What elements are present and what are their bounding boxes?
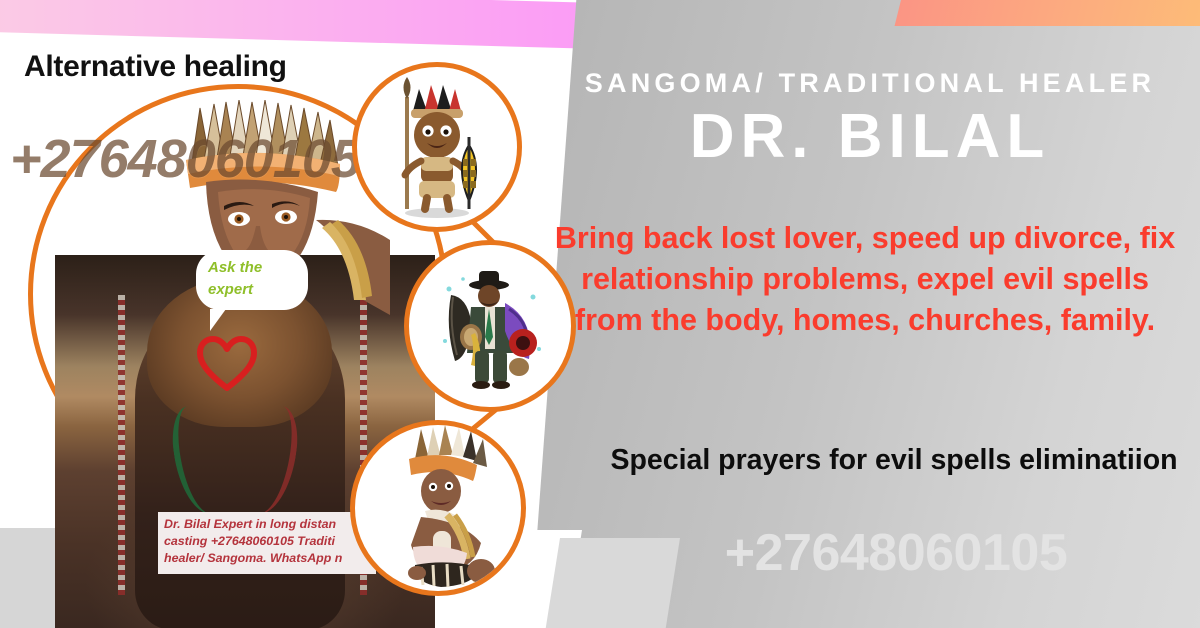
kneeling-sangoma-illustration bbox=[355, 425, 521, 591]
special-prayers-subheading: Special prayers for evil spells eliminat… bbox=[596, 442, 1192, 480]
doctor-name-title: DR. BILAL bbox=[560, 104, 1180, 169]
circle-zulu-warrior-child bbox=[352, 62, 522, 232]
phone-number-watermark: +27648060105 bbox=[596, 523, 1196, 583]
pink-gradient-bar bbox=[0, 0, 600, 49]
poster-canvas: Alternative healing bbox=[0, 0, 1200, 628]
zulu-warrior-child-illustration bbox=[357, 67, 517, 227]
heart-outline-icon bbox=[196, 336, 258, 392]
photo-bead-strand-left bbox=[118, 295, 125, 595]
speech-bubble-label: Ask the expert bbox=[208, 257, 308, 301]
services-description: Bring back lost lover, speed up divorce,… bbox=[545, 218, 1185, 341]
page-title: Alternative healing bbox=[24, 50, 287, 84]
orange-gradient-bar bbox=[895, 0, 1200, 26]
kicker-heading: SANGOMA/ TRADITIONAL HEALER bbox=[560, 68, 1180, 99]
caption-line-1: Dr. Bilal Expert in long distan bbox=[164, 516, 371, 533]
photo-caption-box: Dr. Bilal Expert in long distan casting … bbox=[158, 512, 376, 574]
caption-line-3: healer/ Sangoma. WhatsApp n bbox=[164, 550, 371, 567]
caption-line-2: casting +27648060105 Traditi bbox=[164, 533, 371, 550]
circle-kneeling-sangoma bbox=[350, 420, 526, 596]
